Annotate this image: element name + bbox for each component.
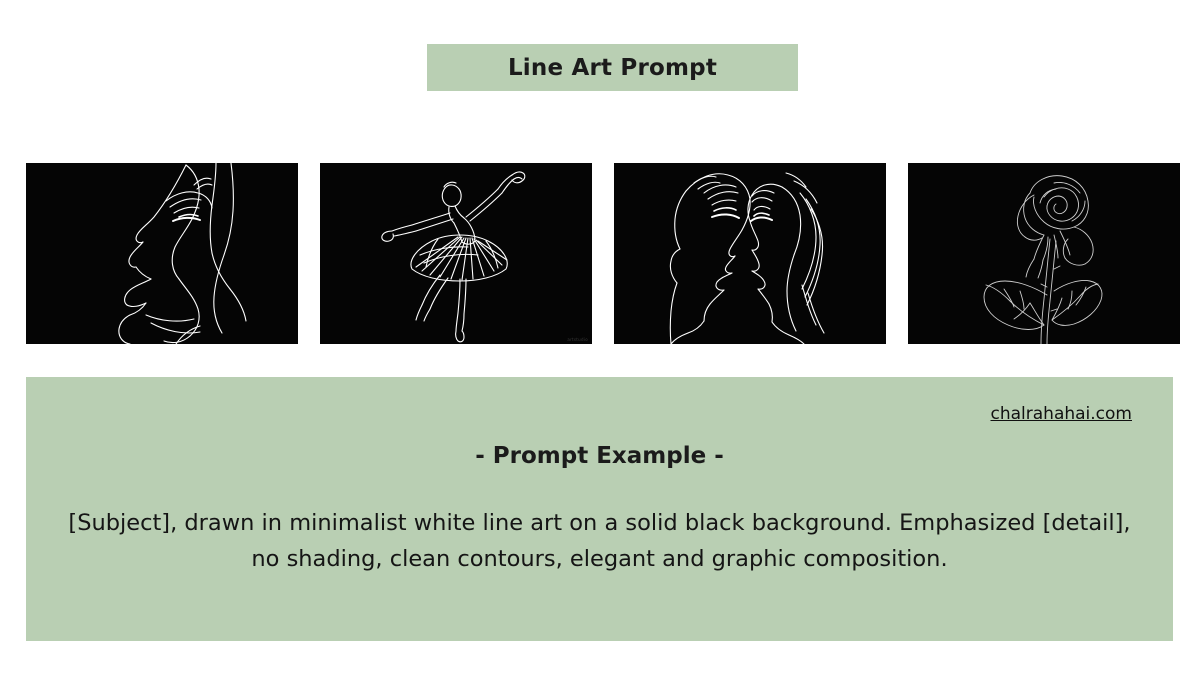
line-art-gallery: artstudio (26, 163, 1180, 344)
couple-faces-line-art-icon (614, 163, 886, 344)
gallery-thumbnail-face-profile[interactable] (26, 163, 298, 344)
prompt-example-panel: chalrahahai.com - Prompt Example - [Subj… (26, 377, 1173, 641)
gallery-thumbnail-ballerina[interactable]: artstudio (320, 163, 592, 344)
gallery-thumbnail-rose[interactable] (908, 163, 1180, 344)
title-banner: Line Art Prompt (427, 44, 798, 91)
page-title: Line Art Prompt (508, 55, 717, 81)
prompt-example-heading: - Prompt Example - (26, 443, 1173, 469)
watermark-link[interactable]: chalrahahai.com (991, 404, 1133, 424)
thumbnail-caption: artstudio (567, 337, 588, 342)
gallery-thumbnail-couple-faces[interactable] (614, 163, 886, 344)
face-profile-line-art-icon (26, 163, 298, 344)
prompt-example-body: [Subject], drawn in minimalist white lin… (56, 505, 1143, 577)
ballerina-line-art-icon (320, 163, 592, 344)
rose-line-art-icon (908, 163, 1180, 344)
